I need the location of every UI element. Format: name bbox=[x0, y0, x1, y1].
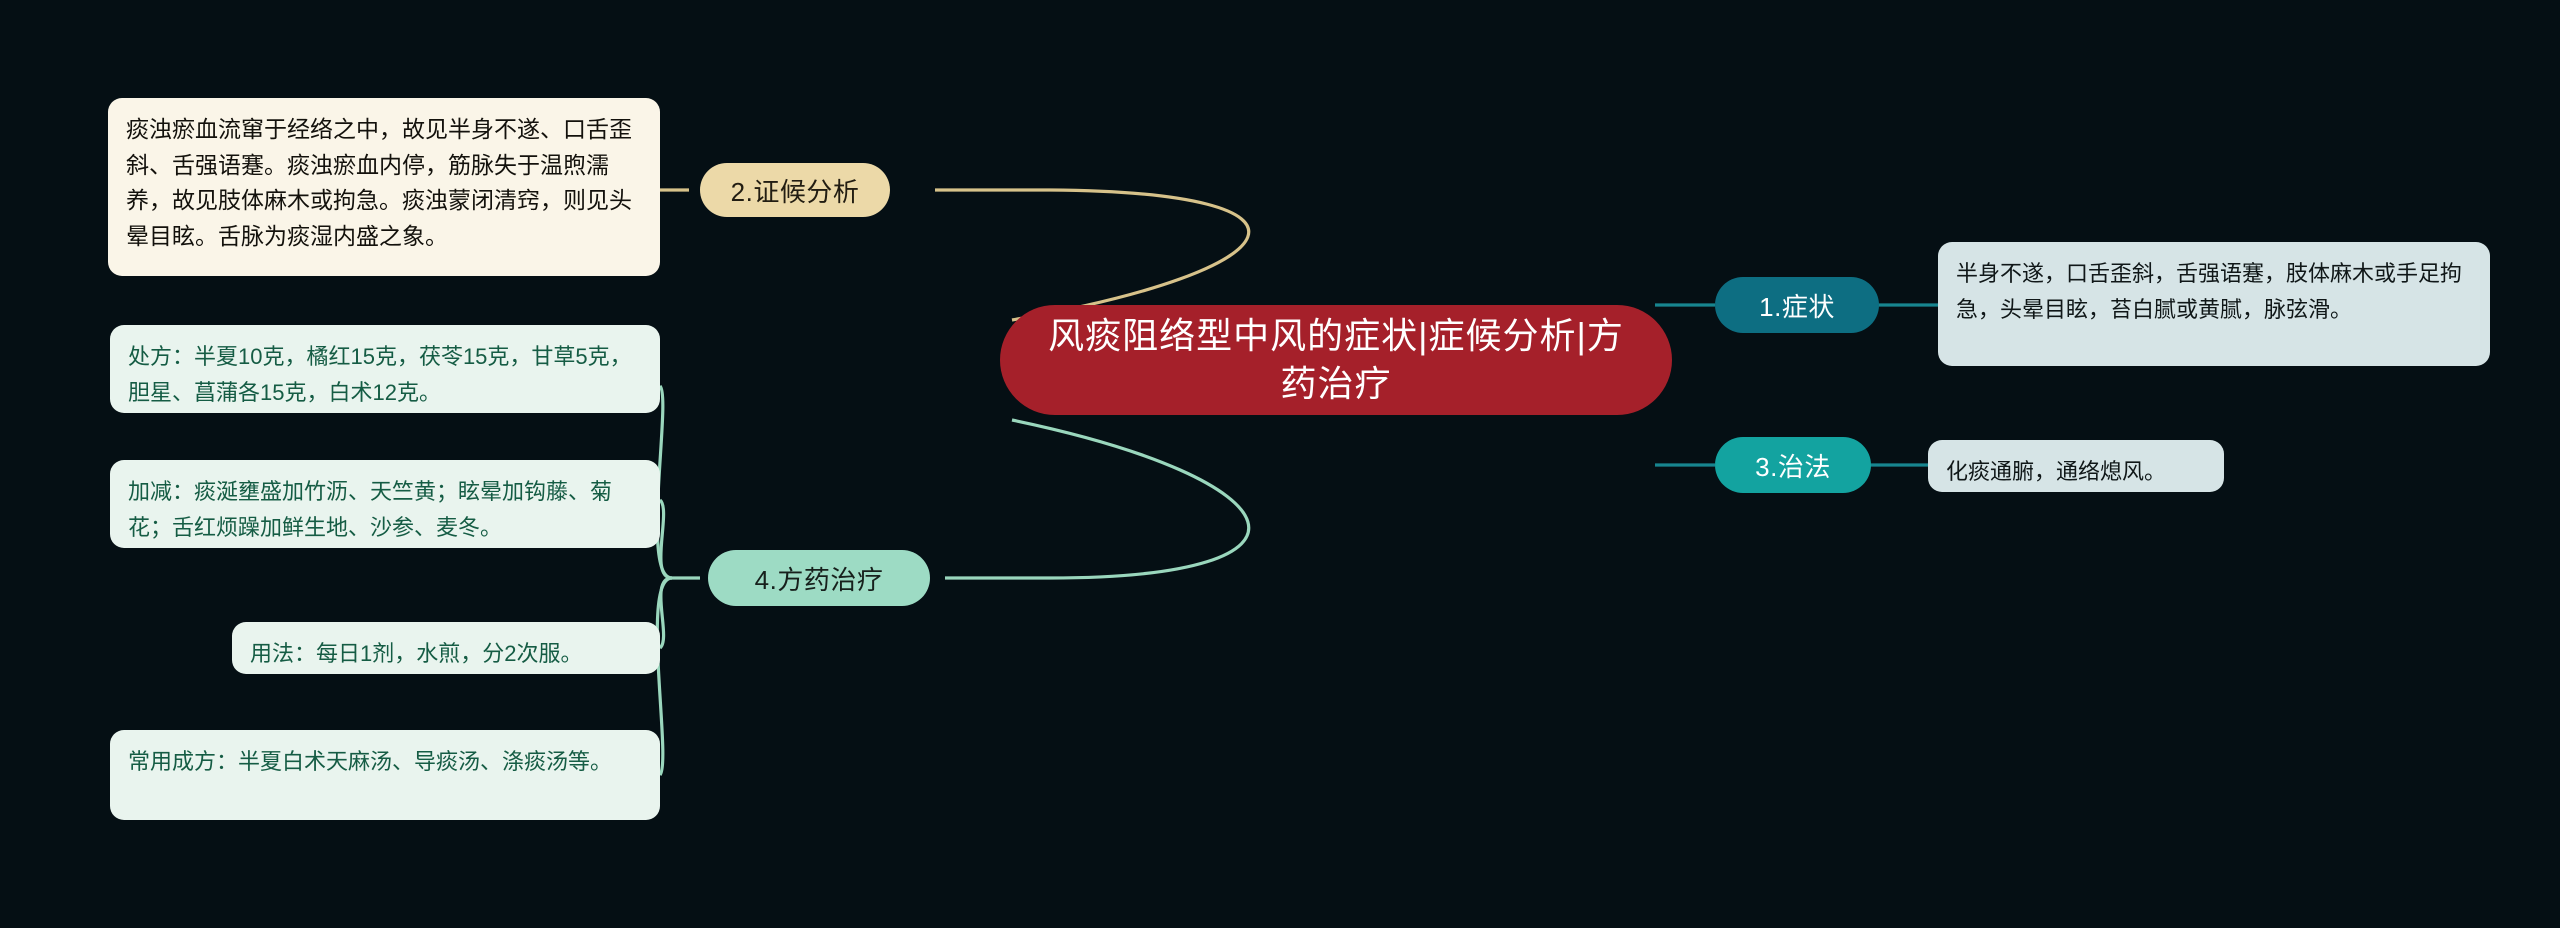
leaf-text-treatment-method-detail: 化痰通腑，通络熄风。 bbox=[1946, 454, 2166, 490]
central-topic-node[interactable]: 风痰阻络型中风的症状|症候分析|方药治疗 bbox=[1000, 305, 1672, 415]
mindmap-canvas: 风痰阻络型中风的症状|症候分析|方药治疗 2.证候分析 痰浊瘀血流窜于经络之中，… bbox=[0, 0, 2560, 928]
branch-node-symptoms[interactable]: 1.症状 bbox=[1715, 277, 1879, 333]
leaf-card-prescription[interactable]: 处方：半夏10克，橘红15克，茯苓15克，甘草5克，胆星、菖蒲各15克，白术12… bbox=[110, 325, 660, 413]
branch-label-syndrome-analysis: 2.证候分析 bbox=[731, 172, 860, 209]
leaf-text-common-formulas: 常用成方：半夏白术天麻汤、导痰汤、涤痰汤等。 bbox=[128, 744, 612, 780]
leaf-text-symptoms-detail: 半身不遂，口舌歪斜，舌强语蹇，肢体麻木或手足拘急，头晕目眩，苔白腻或黄腻，脉弦滑… bbox=[1956, 256, 2472, 327]
leaf-text-syndrome-analysis-detail: 痰浊瘀血流窜于经络之中，故见半身不遂、口舌歪斜、舌强语蹇。痰浊瘀血内停，筋脉失于… bbox=[126, 112, 642, 255]
leaf-text-usage: 用法：每日1剂，水煎，分2次服。 bbox=[250, 636, 582, 672]
leaf-card-syndrome-analysis-detail[interactable]: 痰浊瘀血流窜于经络之中，故见半身不遂、口舌歪斜、舌强语蹇。痰浊瘀血内停，筋脉失于… bbox=[108, 98, 660, 276]
link-central-to-syndrome-analysis bbox=[935, 190, 1249, 320]
branch-node-formula-therapy[interactable]: 4.方药治疗 bbox=[708, 550, 930, 606]
branch-node-treatment-method[interactable]: 3.治法 bbox=[1715, 437, 1871, 493]
branch-label-formula-therapy: 4.方药治疗 bbox=[755, 560, 884, 597]
leaf-text-modification: 加减：痰涎壅盛加竹沥、天竺黄；眩晕加钩藤、菊花；舌红烦躁加鲜生地、沙参、麦冬。 bbox=[128, 474, 642, 545]
branch-label-symptoms: 1.症状 bbox=[1759, 287, 1835, 324]
leaf-card-treatment-method-detail[interactable]: 化痰通腑，通络熄风。 bbox=[1928, 440, 2224, 492]
leaf-card-usage[interactable]: 用法：每日1剂，水煎，分2次服。 bbox=[232, 622, 660, 674]
link-formula-therapy-to-usage bbox=[660, 578, 672, 648]
link-central-to-formula-therapy bbox=[945, 420, 1249, 578]
leaf-card-common-formulas[interactable]: 常用成方：半夏白术天麻汤、导痰汤、涤痰汤等。 bbox=[110, 730, 660, 820]
branch-label-treatment-method: 3.治法 bbox=[1755, 447, 1831, 484]
link-formula-therapy-to-modification bbox=[660, 500, 672, 578]
branch-node-syndrome-analysis[interactable]: 2.证候分析 bbox=[700, 163, 890, 217]
leaf-card-symptoms-detail[interactable]: 半身不遂，口舌歪斜，舌强语蹇，肢体麻木或手足拘急，头晕目眩，苔白腻或黄腻，脉弦滑… bbox=[1938, 242, 2490, 366]
leaf-card-modification[interactable]: 加减：痰涎壅盛加竹沥、天竺黄；眩晕加钩藤、菊花；舌红烦躁加鲜生地、沙参、麦冬。 bbox=[110, 460, 660, 548]
leaf-text-prescription: 处方：半夏10克，橘红15克，茯苓15克，甘草5克，胆星、菖蒲各15克，白术12… bbox=[128, 339, 642, 410]
central-topic-label: 风痰阻络型中风的症状|症候分析|方药治疗 bbox=[1046, 312, 1626, 407]
